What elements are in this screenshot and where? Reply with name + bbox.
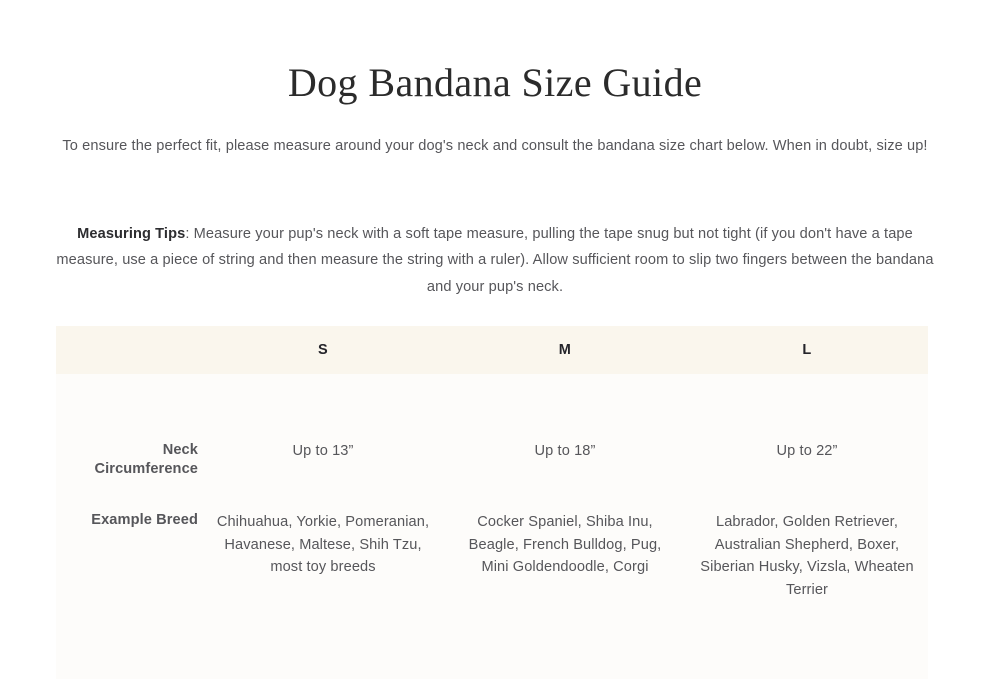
page-title: Dog Bandana Size Guide	[0, 59, 990, 107]
table-row: Example Breed Chihuahua, Yorkie, Pomeran…	[56, 479, 928, 601]
row-label-neck-circumference: Neck Circumference	[56, 374, 202, 479]
cell-neck-l: Up to 22”	[686, 374, 928, 479]
table-header: S M L	[56, 326, 928, 374]
cell-breed-s: Chihuahua, Yorkie, Pomeranian, Havanese,…	[202, 479, 444, 601]
column-header-m: M	[444, 326, 686, 374]
measuring-tips-label: Measuring Tips	[77, 226, 185, 242]
cell-breed-m: Cocker Spaniel, Shiba Inu, Beagle, Frenc…	[444, 479, 686, 601]
table-corner-header	[56, 326, 202, 374]
table-header-row: S M L	[56, 326, 928, 374]
cell-neck-m: Up to 18”	[444, 374, 686, 479]
intro-paragraph: To ensure the perfect fit, please measur…	[45, 134, 945, 158]
column-header-l: L	[686, 326, 928, 374]
row-label-example-breed: Example Breed	[56, 479, 202, 601]
cell-breed-l: Labrador, Golden Retriever, Australian S…	[686, 479, 928, 601]
size-chart-table: S M L Neck Circumference Up to 13” Up to…	[56, 326, 928, 679]
size-guide-page: Dog Bandana Size Guide To ensure the per…	[0, 0, 990, 643]
column-header-s: S	[202, 326, 444, 374]
measuring-tips-paragraph: Measuring Tips: Measure your pup's neck …	[55, 221, 935, 301]
cell-neck-s: Up to 13”	[202, 374, 444, 479]
table-body: Neck Circumference Up to 13” Up to 18” U…	[56, 374, 928, 679]
table-row: Neck Circumference Up to 13” Up to 18” U…	[56, 374, 928, 479]
table-spacer-row	[56, 601, 928, 679]
measuring-tips-body: : Measure your pup's neck with a soft ta…	[56, 226, 933, 295]
